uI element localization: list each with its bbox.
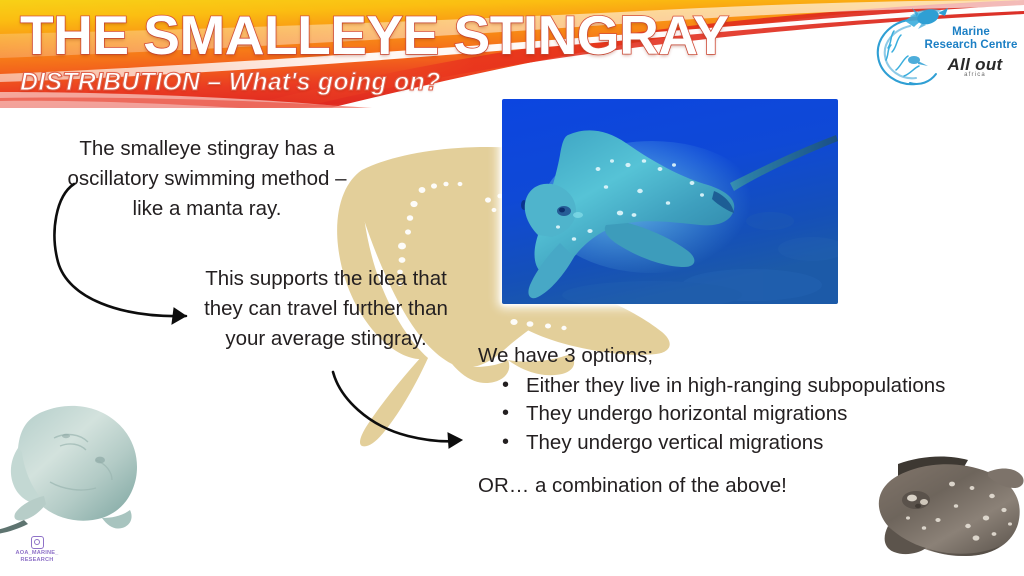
- arrow-head-1: [172, 308, 186, 324]
- pink-whipray-photo: [0, 394, 164, 556]
- watermark-handle-line-2: RESEARCH: [21, 557, 54, 563]
- presentation-slide: THE SMALLEYE STINGRAY DISTRIBUTION – Wha…: [0, 0, 1024, 576]
- smalleye-stingray-underwater-photo: [502, 99, 838, 304]
- bullet-glyph: •: [502, 399, 509, 428]
- travel-further-note: This supports the idea that they can tra…: [190, 264, 462, 354]
- options-list: • Either they live in high-ranging subpo…: [478, 372, 1018, 458]
- logo-line-2: Research Centre: [925, 39, 1018, 51]
- instagram-icon: [31, 536, 44, 549]
- instagram-watermark: AOA_MARINE_ RESEARCH: [8, 536, 66, 564]
- logo-name: Marine Research Centre: [924, 26, 1018, 52]
- list-item: • They undergo horizontal migrations: [502, 400, 1018, 429]
- list-item-label: Either they live in high-ranging subpopu…: [526, 374, 945, 397]
- oscillatory-swimming-note: The smalleye stingray has a oscillatory …: [62, 134, 352, 224]
- watermark-handle-line-1: AOA_MARINE_: [16, 550, 59, 556]
- marine-research-centre-logo: Marine Research Centre All out africa: [866, 4, 1018, 92]
- list-item-label: They undergo horizontal migrations: [526, 402, 847, 425]
- logo-line-1: Marine: [952, 26, 990, 38]
- page-title: THE SMALLEYE STINGRAY: [20, 6, 850, 64]
- three-options-block: We have 3 options; • Either they live in…: [478, 342, 1018, 457]
- list-item: • Either they live in high-ranging subpo…: [502, 372, 1018, 401]
- list-item-label: They undergo vertical migrations: [526, 431, 823, 454]
- watermark-handle: AOA_MARINE_ RESEARCH: [8, 550, 66, 564]
- bullet-glyph: •: [502, 371, 509, 400]
- options-lead-line: We have 3 options;: [478, 342, 1018, 371]
- bullet-glyph: •: [502, 428, 509, 457]
- brand-subtitle: africa: [932, 72, 1018, 78]
- all-out-africa-brand: All out africa: [932, 56, 1018, 78]
- smalleye-stingray-specimen-photo: [868, 448, 1024, 576]
- brand-name: All out: [932, 56, 1018, 73]
- page-subtitle: DISTRIBUTION – What's going on?: [20, 69, 440, 96]
